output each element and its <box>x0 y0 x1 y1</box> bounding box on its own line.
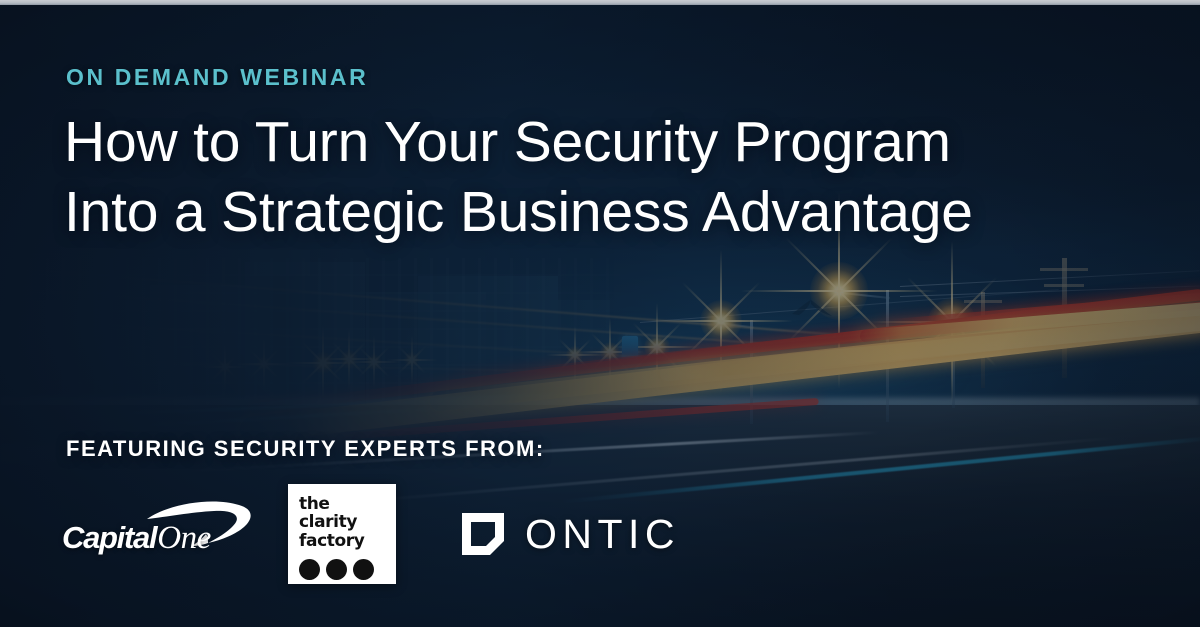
clarity-factory-dots <box>299 559 396 580</box>
capital-one-word-one: One <box>157 520 210 556</box>
dot-icon <box>353 559 374 580</box>
clarity-factory-wordmark: the clarity factory <box>299 495 396 550</box>
logo-ontic: ONTIC <box>462 498 680 570</box>
capital-one-word-capital: Capital <box>62 520 156 555</box>
banner-content: ON DEMAND WEBINAR How to Turn Your Secur… <box>0 0 1200 627</box>
capital-one-wordmark: CapitalOne <box>62 520 211 557</box>
clarity-factory-line-3: factory <box>299 532 396 550</box>
top-edge-strip <box>0 0 1200 5</box>
dot-icon <box>299 559 320 580</box>
headline-line-2: Into a Strategic Business Advantage <box>64 178 1134 248</box>
logo-capital-one: CapitalOne <box>62 498 252 570</box>
featuring-label: FEATURING SECURITY EXPERTS FROM: <box>66 436 545 462</box>
page-title: How to Turn Your Security Program Into a… <box>64 108 1134 247</box>
headline-line-1: How to Turn Your Security Program <box>64 108 1134 178</box>
dot-icon <box>326 559 347 580</box>
ontic-notched-square-icon <box>462 513 504 555</box>
eyebrow-label: ON DEMAND WEBINAR <box>66 64 368 91</box>
partner-logo-row: CapitalOne the clarity factory <box>62 484 680 584</box>
clarity-factory-line-2: clarity <box>299 513 396 531</box>
webinar-promo-banner: ON DEMAND WEBINAR How to Turn Your Secur… <box>0 0 1200 627</box>
logo-the-clarity-factory: the clarity factory <box>288 484 396 584</box>
ontic-wordmark: ONTIC <box>525 511 680 558</box>
clarity-factory-line-1: the <box>299 495 396 513</box>
